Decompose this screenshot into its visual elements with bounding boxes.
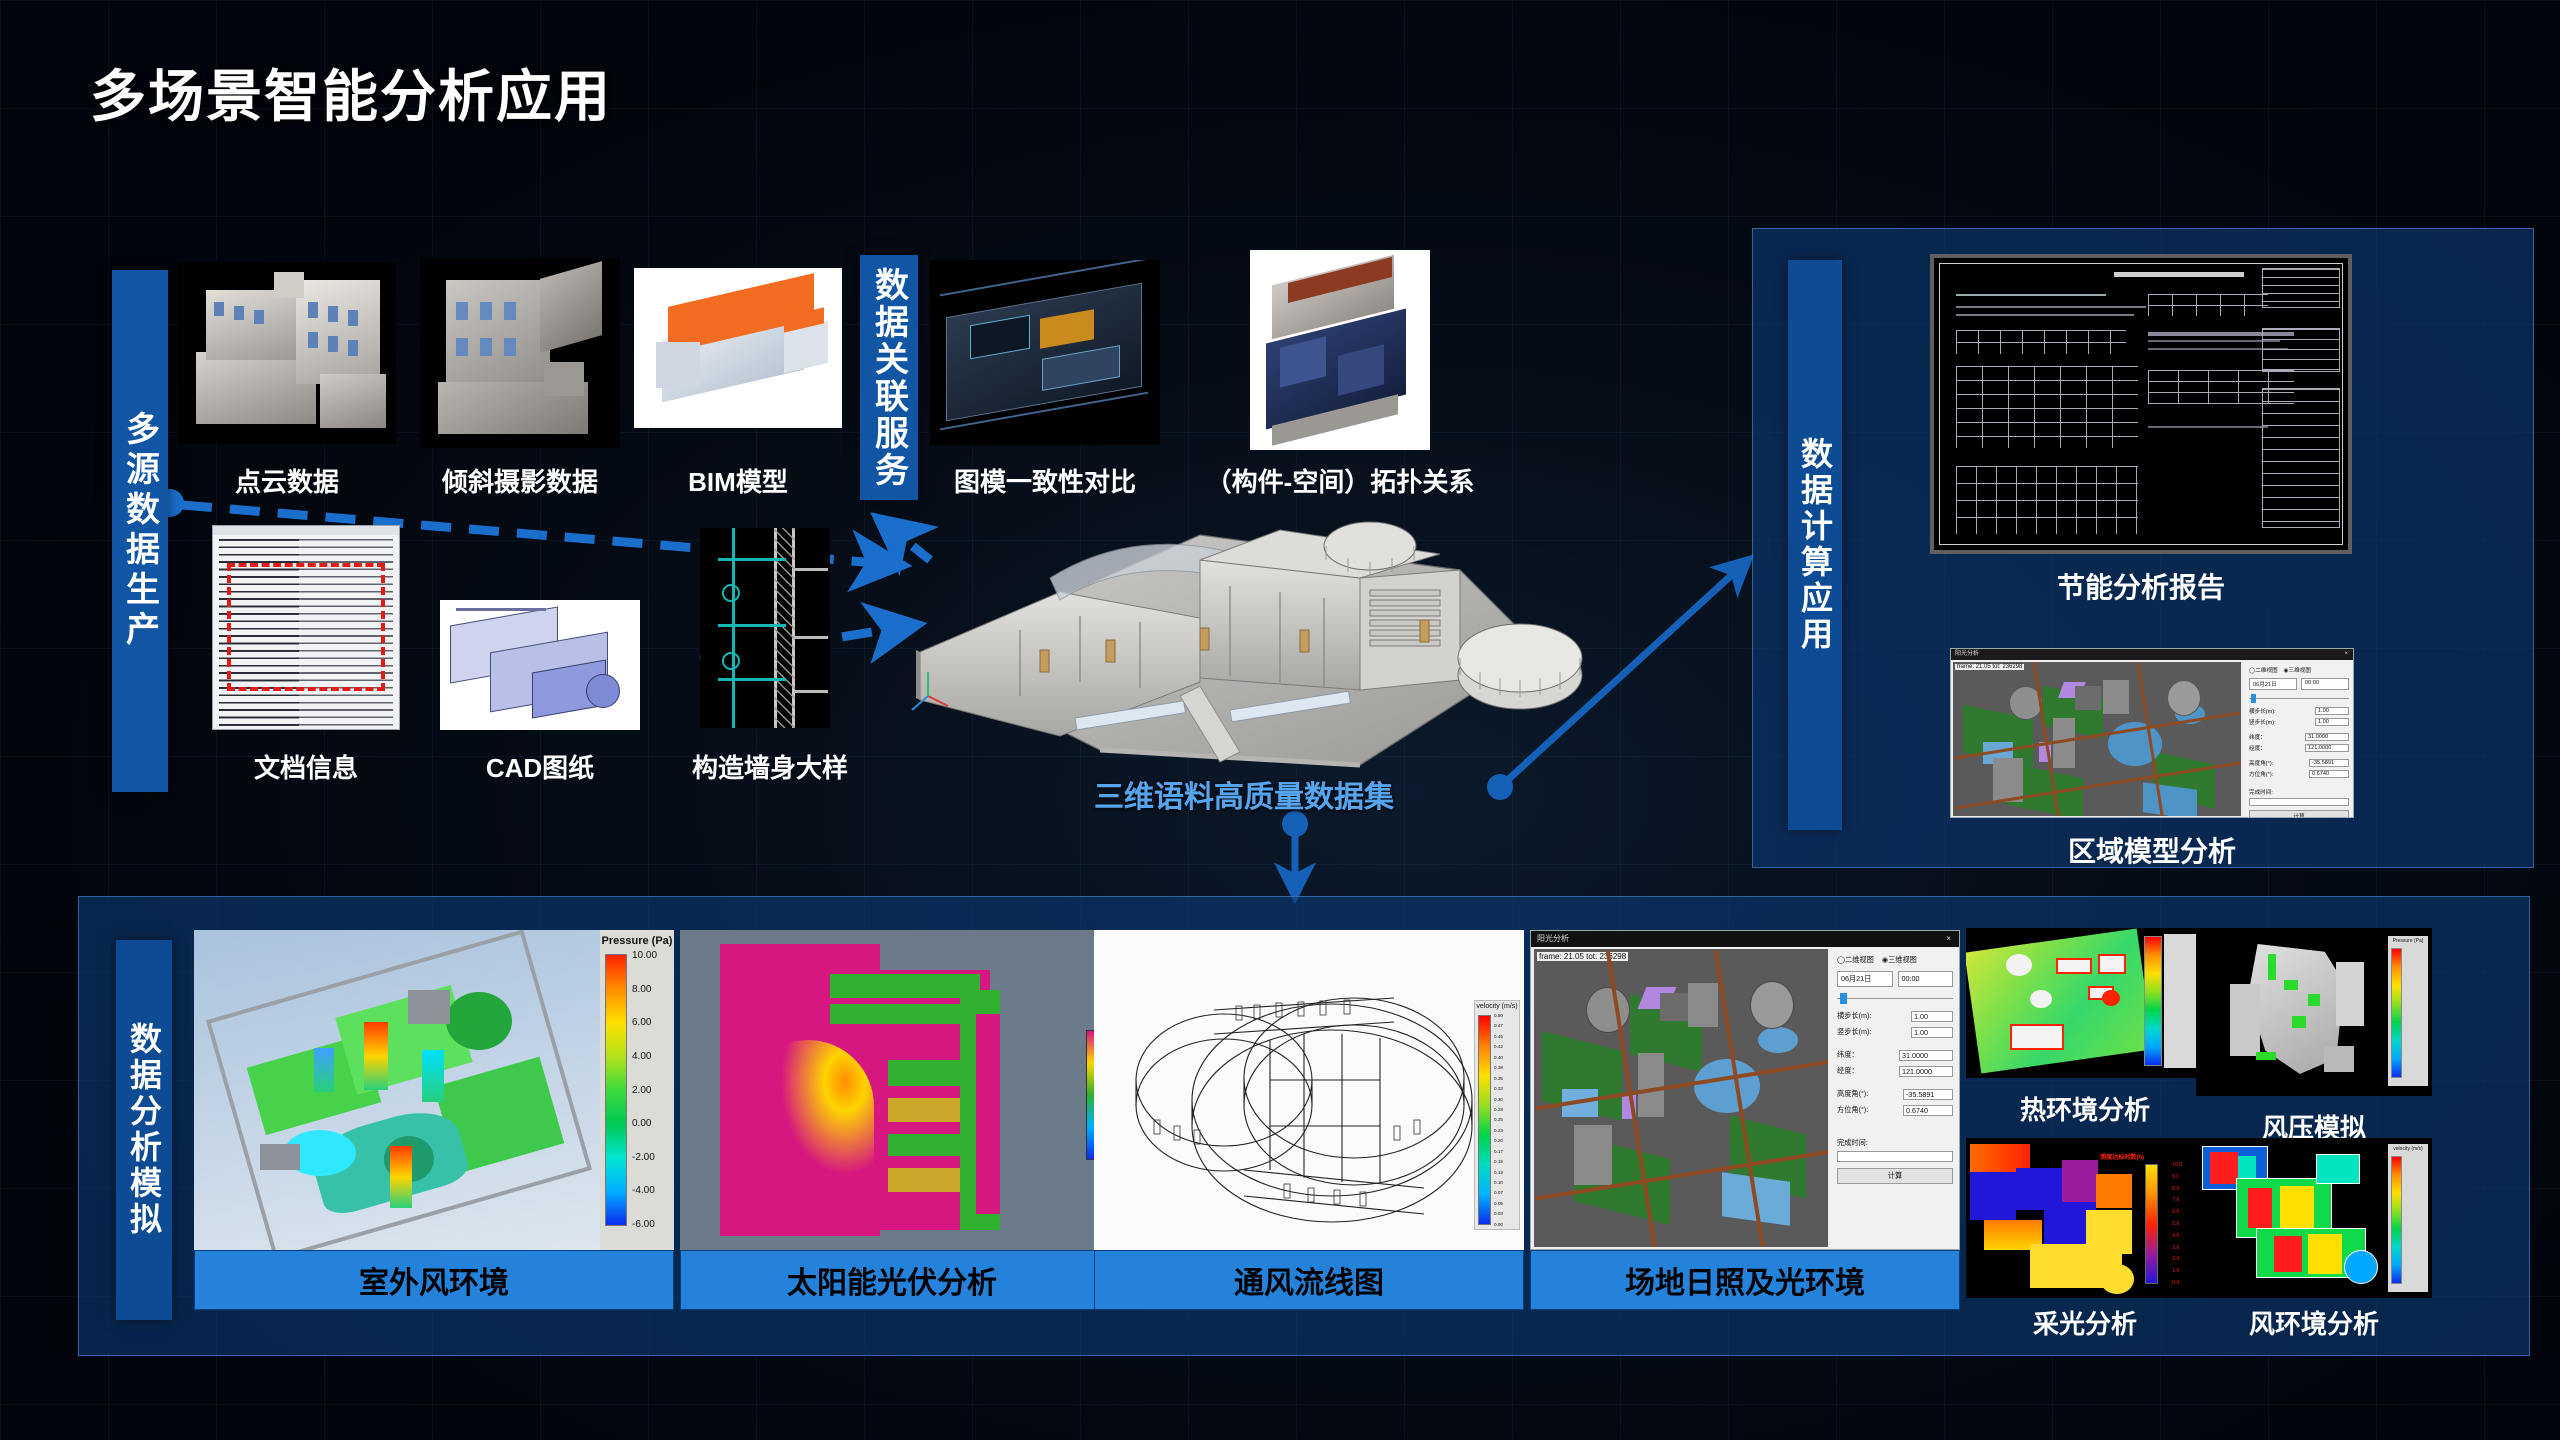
field-step-x-2[interactable]: 横步长(m): 1.00 <box>1837 1011 1953 1022</box>
legend-tick: 0.35 <box>1494 1076 1503 1081</box>
field-step-y-2[interactable]: 竖步长(m): 1.00 <box>1837 1027 1953 1038</box>
thumb-wind-environment-analysis[interactable]: velocity (m/s) <box>2196 1138 2432 1298</box>
close-icon-2[interactable]: × <box>1946 931 1951 947</box>
sidebar-banner-data-production-label: 多源数据生产 <box>116 411 165 651</box>
sunlight-frame-readout: frame: 21.05 tot: 236298 <box>1955 664 2024 670</box>
legend-tick: -6.00 <box>632 1219 657 1230</box>
thumb-outdoor-wind-environment[interactable]: Pressure (Pa) 10.008.006.004.002.000.00-… <box>194 930 674 1250</box>
legend-tick: 0.10 <box>1494 1180 1503 1185</box>
thumb-wind-pressure-simulation[interactable]: Pressure (Pa) <box>2196 928 2432 1096</box>
legend-tick: 0.0 <box>2172 1280 2182 1286</box>
radio-view-2d[interactable]: ◯二维视图 <box>2249 666 2278 674</box>
caption-bim-model: BIM模型 <box>634 462 842 499</box>
date-field[interactable]: 06月21日 <box>2249 678 2297 690</box>
caption-solar-pv-analysis[interactable]: 太阳能光伏分析 <box>680 1250 1104 1310</box>
sidebar-banner-analysis-simulation-label: 数据分析模拟 <box>121 1022 167 1238</box>
legend-title-wind-env: velocity (m/s) <box>2388 1144 2428 1152</box>
field-longitude-2[interactable]: 经度： 121.0000 <box>1837 1066 1953 1077</box>
ventilation-wireframe-svg <box>1094 930 1524 1250</box>
legend-tick: 7.0 <box>2172 1197 2182 1203</box>
legend-title-velocity: velocity (m/s) <box>1475 1001 1519 1010</box>
caption-wind-environment-analysis: 风环境分析 <box>2196 1304 2432 1341</box>
thumb-daylight-analysis[interactable]: 照度达标时数(h) 10.09.08.07.06.05.04.03.02.01.… <box>1966 1138 2206 1298</box>
legend-tick: 0.07 <box>1494 1190 1503 1195</box>
legend-tick: 0.38 <box>1494 1065 1503 1070</box>
legend-tick: 8.00 <box>632 984 657 995</box>
legend-tick: 0.00 <box>1494 1222 1503 1227</box>
thumb-thermal-environment[interactable] <box>1966 928 2206 1078</box>
caption-outdoor-wind-environment[interactable]: 室外风环境 <box>194 1250 674 1310</box>
time-field-2[interactable]: 00:00 <box>1898 971 1954 987</box>
legend-tick: 0.30 <box>1494 1097 1503 1102</box>
legend-tick: 8.0 <box>2172 1186 2182 1192</box>
thumb-point-cloud-data[interactable] <box>178 262 396 444</box>
time-slider[interactable] <box>2249 694 2349 702</box>
thumb-ventilation-streamline[interactable]: velocity (m/s) 0.500.470.450.420.400.380… <box>1094 930 1524 1250</box>
legend-tick: 0.13 <box>1494 1170 1503 1175</box>
legend-tick: 3.0 <box>2172 1245 2182 1251</box>
radio-view-3d[interactable]: ◉三维视图 <box>2284 666 2311 674</box>
legend-tick: 4.0 <box>2172 1233 2182 1239</box>
legend-tick: 10.00 <box>632 950 657 961</box>
caption-ventilation-streamline[interactable]: 通风流线图 <box>1094 1250 1524 1310</box>
thumb-solar-pv-analysis[interactable] <box>680 930 1104 1250</box>
field-step-y[interactable]: 竖步长(m): 1.00 <box>2249 718 2349 726</box>
caption-energy-saving-report: 节能分析报告 <box>1930 566 2352 606</box>
center-three-d-building-model[interactable] <box>900 500 1600 800</box>
caption-thermal-environment: 热环境分析 <box>1960 1090 2210 1127</box>
field-azimuth-angle[interactable]: 方位角(°): 0.6740 <box>2249 770 2349 778</box>
close-icon[interactable]: × <box>2344 649 2348 660</box>
slide-root: 多场景智能分析应用 <box>0 0 2560 1440</box>
legend-ticks-pressure: 10.008.006.004.002.000.00-2.00-4.00-6.00 <box>632 950 657 1230</box>
result-field-2[interactable] <box>1837 1151 1953 1162</box>
caption-point-cloud-data: 点云数据 <box>178 462 396 499</box>
field-latitude-2[interactable]: 纬度： 31.0000 <box>1837 1050 1953 1061</box>
dataset-label: 三维语料高质量数据集 <box>1094 772 1394 816</box>
thumb-component-space-topology[interactable] <box>1250 250 1430 450</box>
sunlight-dialog-titlebar: 阳光分析 × <box>1951 649 2353 660</box>
thumb-energy-saving-report[interactable] <box>1930 254 2352 554</box>
result-label: 完成时间: <box>2249 788 2349 796</box>
sidebar-banner-data-association-service: 数据关联服务 <box>860 255 918 500</box>
site-sunlight-frame-readout: frame: 21.05 tot: 236298 <box>1537 952 1628 961</box>
field-longitude[interactable]: 经度： 121.0000 <box>2249 744 2349 752</box>
thumb-site-sunlight-daylight[interactable]: 阳光分析 × frame: 21.05 tot: 236298 <box>1530 930 1960 1250</box>
site-sunlight-titlebar: 阳光分析 × <box>1531 931 1959 947</box>
legend-tick: 0.25 <box>1494 1117 1503 1122</box>
caption-wall-detail-drawing: 构造墙身大样 <box>660 748 880 785</box>
caption-cad-drawing: CAD图纸 <box>432 748 648 785</box>
legend-tick: 2.00 <box>632 1085 657 1096</box>
legend-tick: 6.0 <box>2172 1209 2182 1215</box>
caption-site-sunlight-daylight[interactable]: 场地日照及光环境 <box>1530 1250 1960 1310</box>
legend-tick: 0.20 <box>1494 1138 1503 1143</box>
field-azimuth-angle-2[interactable]: 方位角(°): 0.6740 <box>1837 1105 1953 1116</box>
field-step-x[interactable]: 横步长(m): 1.00 <box>2249 707 2349 715</box>
caption-regional-model-analysis: 区域模型分析 <box>1950 830 2354 870</box>
caption-daylight-analysis: 采光分析 <box>1960 1304 2210 1341</box>
caption-component-space-topology: （构件-空间）拓扑关系 <box>1180 462 1500 499</box>
legend-tick: 5.0 <box>2172 1221 2182 1227</box>
legend-tick: 0.00 <box>632 1118 657 1129</box>
thumb-wall-detail-drawing[interactable] <box>700 528 830 728</box>
legend-tick: -2.00 <box>632 1152 657 1163</box>
sunlight-control-panel[interactable]: ◯二维视图 ◉三维视图 06月21日 00:00 横步长(m): 1.00 竖步… <box>2245 662 2353 816</box>
sunlight-dialog-title: 阳光分析 <box>1955 651 1979 657</box>
legend-tick: 10.0 <box>2172 1162 2182 1168</box>
time-slider-2[interactable] <box>1837 993 1953 1003</box>
legend-tick: 0.17 <box>1494 1149 1503 1154</box>
caption-model-drawing-consistency: 图模一致性对比 <box>920 462 1170 499</box>
thumb-bim-model[interactable] <box>634 268 842 428</box>
legend-tick: 2.0 <box>2172 1256 2182 1262</box>
result-label-2: 完成时间: <box>1837 1138 1953 1148</box>
run-button[interactable]: 计算 <box>2249 810 2349 818</box>
legend-tick: 0.47 <box>1494 1023 1503 1028</box>
legend-title-wind-pressure: Pressure (Pa) <box>2388 936 2428 944</box>
result-field[interactable] <box>2249 798 2349 806</box>
legend-tick: 0.15 <box>1494 1159 1503 1164</box>
field-altitude-angle[interactable]: 高度角(°): -35.5891 <box>2249 759 2349 767</box>
legend-tick: -4.00 <box>632 1185 657 1196</box>
legend-tick: 0.23 <box>1494 1128 1503 1133</box>
sidebar-banner-compute-application: 数据计算应用 <box>1788 260 1842 830</box>
legend-tick: 0.50 <box>1494 1013 1503 1018</box>
radio-view-2d-2[interactable]: ◯二维视图 <box>1837 955 1874 965</box>
run-button-2[interactable]: 计算 <box>1837 1168 1953 1184</box>
legend-title-pressure: Pressure (Pa) <box>600 930 674 947</box>
legend-tick: 0.45 <box>1494 1034 1503 1039</box>
legend-tick: 6.00 <box>632 1017 657 1028</box>
radio-view-3d-2[interactable]: ◉三维视图 <box>1882 955 1917 965</box>
legend-tick: 4.00 <box>632 1051 657 1062</box>
legend-title-daylight: 照度达标时数(h) <box>2100 1152 2144 1161</box>
legend-tick: 0.40 <box>1494 1055 1503 1060</box>
sidebar-banner-data-association-service-label: 数据关联服务 <box>865 267 914 489</box>
field-altitude-angle-2[interactable]: 高度角(°): -35.5891 <box>1837 1089 1953 1100</box>
legend-ticks-velocity: 0.500.470.450.420.400.380.350.330.300.28… <box>1494 1013 1503 1227</box>
sidebar-banner-data-production: 多源数据生产 <box>112 270 168 792</box>
sidebar-banner-compute-application-label: 数据计算应用 <box>1792 437 1838 653</box>
legend-tick: 0.05 <box>1494 1201 1503 1206</box>
page-title: 多场景智能分析应用 <box>90 52 612 133</box>
thumb-regional-model-analysis[interactable]: 阳光分析 × frame: 21.05 tot: 236298 <box>1950 648 2354 818</box>
caption-document-info: 文档信息 <box>206 748 406 785</box>
sidebar-banner-analysis-simulation: 数据分析模拟 <box>116 940 172 1320</box>
three-d-model-svg <box>900 500 1600 800</box>
site-sunlight-control-panel[interactable]: ◯二维视图 ◉三维视图 06月21日 00:00 横步长(m): 1.00 竖步… <box>1831 949 1959 1247</box>
field-latitude[interactable]: 纬度： 31.0000 <box>2249 733 2349 741</box>
thumb-cad-drawing[interactable] <box>440 600 640 730</box>
connector-dataset-to-analysis <box>1282 811 1308 896</box>
legend-tick: 0.33 <box>1494 1086 1503 1091</box>
date-field-2[interactable]: 06月21日 <box>1837 971 1893 987</box>
time-field[interactable]: 00:00 <box>2301 678 2349 690</box>
legend-tick: 9.0 <box>2172 1174 2182 1180</box>
document-window-titlebar <box>213 526 399 535</box>
legend-tick: 0.03 <box>1494 1211 1503 1216</box>
legend-tick: 0.28 <box>1494 1107 1503 1112</box>
legend-tick: 1.0 <box>2172 1268 2182 1274</box>
thumb-model-drawing-consistency[interactable] <box>930 260 1160 445</box>
thumb-document-info[interactable] <box>212 525 400 730</box>
caption-oblique-photogrammetry: 倾斜摄影数据 <box>400 462 640 499</box>
thumb-oblique-photogrammetry[interactable] <box>420 258 620 448</box>
legend-ticks-daylight: 10.09.08.07.06.05.04.03.02.01.00.0 <box>2172 1162 2182 1286</box>
legend-tick: 0.42 <box>1494 1044 1503 1049</box>
